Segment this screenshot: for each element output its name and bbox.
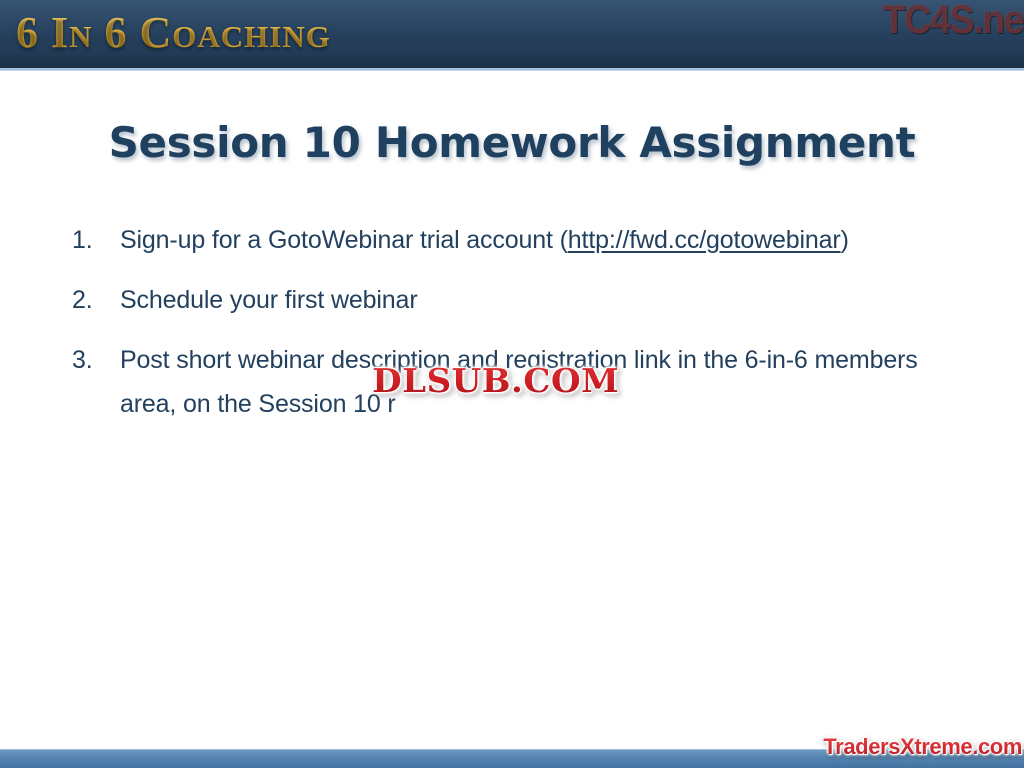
- tradersxtreme-watermark: TradersXtreme.com: [823, 734, 1022, 760]
- list-item-text-after: ): [841, 226, 849, 254]
- list-item-text: Sign-up for a GotoWebinar trial account …: [120, 218, 972, 262]
- list-item-text-before: Sign-up for a GotoWebinar trial account …: [120, 226, 568, 254]
- list-item: 1. Sign-up for a GotoWebinar trial accou…: [72, 218, 972, 262]
- page-title: Session 10 Homework Assignment: [0, 118, 1024, 167]
- brand-logo: 6 In 6 Coaching: [16, 7, 331, 58]
- header-underline-divider: [0, 68, 1024, 71]
- gotowebinar-link[interactable]: http://fwd.cc/gotowebinar: [568, 226, 841, 254]
- list-item-number: 3.: [72, 338, 120, 382]
- header-banner: 6 In 6 Coaching TC4S.net: [0, 0, 1024, 68]
- list-item: 2. Schedule your first webinar: [72, 278, 972, 322]
- list-item-number: 1.: [72, 218, 120, 262]
- homework-list: 1. Sign-up for a GotoWebinar trial accou…: [72, 218, 972, 442]
- presentation-slide: 6 In 6 Coaching TC4S.net Session 10 Home…: [0, 0, 1024, 768]
- tc4s-watermark: TC4S.net: [882, 0, 1024, 43]
- list-item-number: 2.: [72, 278, 120, 322]
- dlsub-watermark: DLSUB.COM: [366, 359, 625, 402]
- list-item-text: Schedule your first webinar: [120, 278, 972, 322]
